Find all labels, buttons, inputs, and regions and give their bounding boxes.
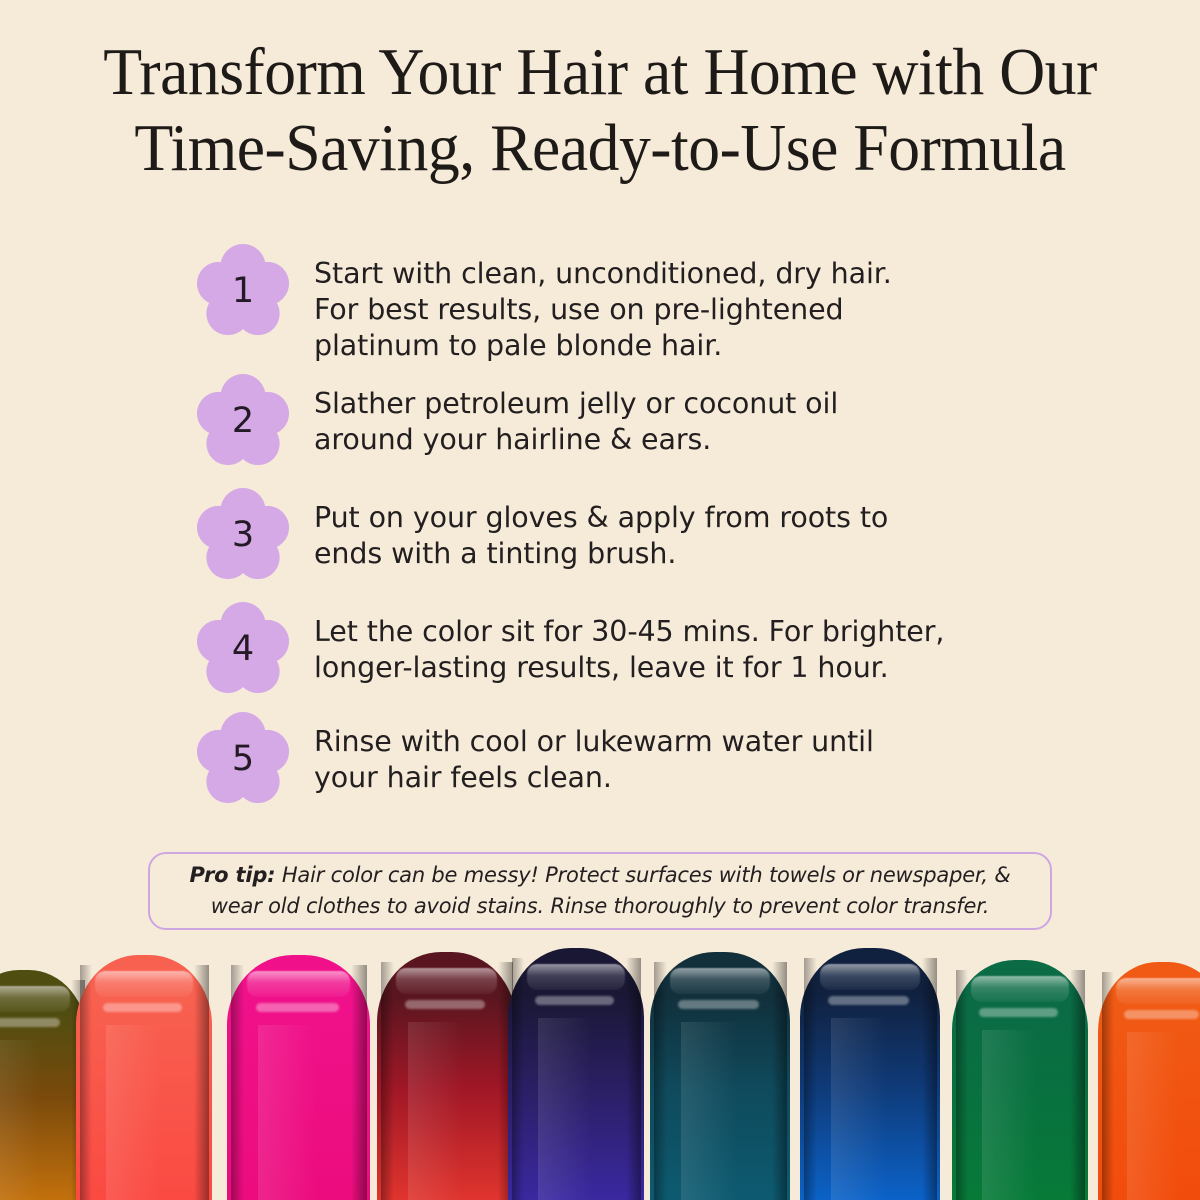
bottle-gloss2-highlight: [1124, 1010, 1199, 1019]
step-text-line: Rinse with cool or lukewarm water until: [314, 724, 1096, 760]
bottle-sheen-highlight: [681, 1022, 737, 1200]
step-text-line: For best results, use on pre-lightened: [314, 292, 1096, 328]
orange-bottle: [1098, 962, 1200, 1200]
bottle-gloss-highlight: [527, 964, 625, 990]
step-item-2: 2 Slather petroleum jelly or coconut oil…: [196, 380, 1096, 468]
step-text-3: Put on your gloves & apply from roots to…: [290, 494, 1096, 572]
step-text-4: Let the color sit for 30-45 mins. For br…: [290, 608, 1096, 686]
step-text-line: platinum to pale blonde hair.: [314, 328, 1096, 364]
step-item-5: 5 Rinse with cool or lukewarm water unti…: [196, 718, 1096, 806]
product-photo-strip: [0, 942, 1200, 1200]
bottle-edgel-highlight: [956, 970, 968, 1200]
emerald-green-bottle: [952, 960, 1088, 1200]
bottle-gloss-highlight: [971, 976, 1069, 1002]
step-item-1: 1 Start with clean, unconditioned, dry h…: [196, 250, 1096, 364]
coral-red-bottle: [76, 955, 212, 1200]
bottle-edger-highlight: [351, 965, 367, 1200]
step-item-3: 3 Put on your gloves & apply from roots …: [196, 494, 1096, 582]
bottle-sheen-highlight: [408, 1022, 464, 1200]
bottle-edger-highlight: [922, 958, 937, 1200]
step-text-line: ends with a tinting brush.: [314, 536, 1096, 572]
bottle-edgel-highlight: [512, 958, 524, 1200]
bottle-sheen-highlight: [106, 1025, 160, 1200]
step-text-line: Slather petroleum jelly or coconut oil: [314, 386, 1096, 422]
pro-tip-callout: Pro tip: Hair color can be messy! Protec…: [148, 852, 1052, 930]
step-number-5: 5: [196, 712, 290, 806]
bottle-gloss2-highlight: [828, 996, 909, 1005]
step-text-2: Slather petroleum jelly or coconut oil a…: [290, 380, 1096, 458]
bottle-sheen-highlight: [982, 1030, 1036, 1200]
royal-blue-bottle: [800, 948, 940, 1200]
step-text-line: longer-lasting results, leave it for 1 h…: [314, 650, 1096, 686]
bottle-gloss2-highlight: [979, 1008, 1058, 1017]
indigo-violet-bottle: [508, 948, 644, 1200]
step-number-4: 4: [196, 602, 290, 696]
bottle-edgel-highlight: [654, 962, 667, 1200]
bottle-edgel-highlight: [80, 965, 92, 1200]
bottle-edger-highlight: [194, 965, 209, 1200]
step-text-line: Put on your gloves & apply from roots to: [314, 500, 1096, 536]
step-badge-2: 2: [196, 374, 290, 468]
bottle-gloss2-highlight: [0, 1018, 60, 1027]
step-number-1: 1: [196, 244, 290, 338]
infographic-page: Transform Your Hair at Home with Our Tim…: [0, 0, 1200, 1200]
bottle-gloss-highlight: [820, 964, 921, 990]
bottle-sheen-highlight: [258, 1025, 315, 1200]
pro-tip-text: Pro tip: Hair color can be messy! Protec…: [176, 860, 1024, 922]
bottle-gloss2-highlight: [405, 1000, 486, 1009]
step-badge-1: 1: [196, 244, 290, 338]
pro-tip-label: Pro tip:: [189, 863, 275, 887]
bottle-edgel-highlight: [1102, 972, 1114, 1200]
step-text-line: Let the color sit for 30-45 mins. For br…: [314, 614, 1096, 650]
bottle-sheen-highlight: [0, 1040, 39, 1200]
step-text-line: around your hairline & ears.: [314, 422, 1096, 458]
step-text-line: your hair feels clean.: [314, 760, 1096, 796]
bottle-gloss2-highlight: [256, 1003, 339, 1012]
bottle-gloss2-highlight: [535, 996, 614, 1005]
step-item-4: 4 Let the color sit for 30-45 mins. For …: [196, 608, 1096, 696]
pro-tip-line-1: Hair color can be messy! Protect surface…: [275, 863, 1010, 887]
bottle-gloss2-highlight: [678, 1000, 759, 1009]
bottle-gloss-highlight: [396, 968, 496, 994]
step-text-line: Start with clean, unconditioned, dry hai…: [314, 256, 1096, 292]
bottle-edger-highlight: [772, 962, 787, 1200]
page-title: Transform Your Hair at Home with Our Tim…: [0, 34, 1200, 186]
olive-amber-bottle: [0, 970, 88, 1200]
bottle-edger-highlight: [626, 958, 641, 1200]
bottle-gloss-highlight: [95, 971, 193, 997]
bottle-sheen-highlight: [1127, 1032, 1179, 1200]
bottle-sheen-highlight: [831, 1018, 887, 1200]
title-line-1: Transform Your Hair at Home with Our: [30, 34, 1170, 110]
hot-pink-bottle: [227, 955, 370, 1200]
bottle-gloss2-highlight: [103, 1003, 182, 1012]
step-text-1: Start with clean, unconditioned, dry hai…: [290, 250, 1096, 364]
step-badge-5: 5: [196, 712, 290, 806]
step-text-5: Rinse with cool or lukewarm water until …: [290, 718, 1096, 796]
bottle-gloss-highlight: [1116, 978, 1200, 1004]
bottle-edgel-highlight: [231, 965, 244, 1200]
bottle-edgel-highlight: [381, 962, 394, 1200]
step-badge-4: 4: [196, 602, 290, 696]
title-line-2: Time-Saving, Ready-to-Use Formula: [30, 110, 1170, 186]
step-number-3: 3: [196, 488, 290, 582]
bottle-gloss-highlight: [247, 971, 350, 997]
pro-tip-line-2: wear old clothes to avoid stains. Rinse …: [211, 894, 989, 918]
bottle-gloss-highlight: [670, 968, 771, 994]
step-badge-3: 3: [196, 488, 290, 582]
teal-bottle: [650, 952, 790, 1200]
steps-list: 1 Start with clean, unconditioned, dry h…: [196, 250, 1096, 806]
dark-red-bottle: [377, 952, 516, 1200]
bottle-sheen-highlight: [538, 1018, 592, 1200]
bottle-edgel-highlight: [804, 958, 817, 1200]
step-number-2: 2: [196, 374, 290, 468]
bottle-edger-highlight: [1070, 970, 1085, 1200]
bottle-gloss-highlight: [0, 986, 70, 1012]
